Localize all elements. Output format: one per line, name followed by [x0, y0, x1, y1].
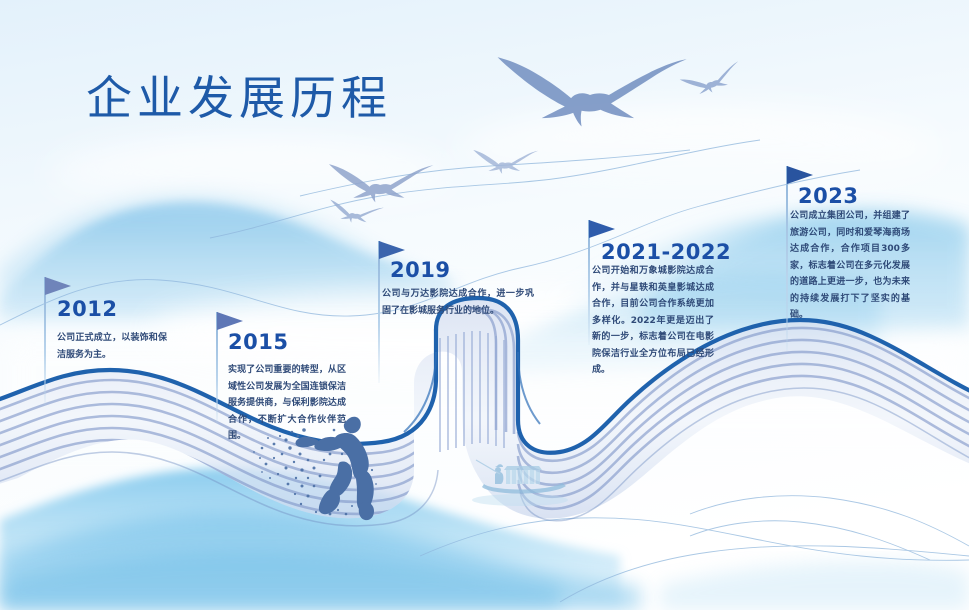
flag-icon — [589, 220, 615, 238]
milestone-year: 2012 — [57, 297, 117, 321]
seagull-medium — [329, 164, 433, 202]
milestone-description: 公司成立集团公司，并组建了旅游公司，同时和爱琴海商场达成合作，合作项目300多家… — [790, 208, 910, 324]
page-title: 企业发展历程 — [86, 62, 392, 128]
milestone-description: 公司开始和万象城影院达成合作，并与星轶和英皇影城达成合作，目前公司合作系统更加多… — [592, 263, 714, 379]
milestone-description: 公司与万达影院达成合作，进一步巩固了在影城服务行业的地位。 — [382, 286, 534, 319]
flag-pole-icon — [786, 166, 788, 351]
flag-icon — [45, 277, 71, 295]
seagull-low — [328, 200, 384, 227]
seagull-tiny — [680, 61, 745, 101]
flag-icon — [379, 241, 405, 259]
flag-pole-icon — [588, 220, 590, 345]
flag-icon — [787, 166, 813, 184]
seagull-small — [473, 150, 538, 174]
flag-icon — [217, 312, 243, 330]
milestone-year: 2019 — [390, 258, 450, 282]
milestone-description: 实现了公司重要的转型，从区域性公司发展为全国连锁保洁服务提供商，与保利影院达成合… — [228, 362, 346, 445]
milestone-year: 2015 — [228, 330, 288, 354]
milestone-description: 公司正式成立，以装饰和保洁服务为主。 — [57, 330, 167, 363]
milestone-year: 2023 — [798, 184, 858, 208]
poster-canvas: 企业发展历程 2012 公司正式成立，以装饰和保洁服务为主。 2015 实现了公… — [0, 0, 969, 610]
flag-pole-icon — [44, 277, 46, 405]
flag-pole-icon — [378, 241, 380, 383]
seagull-large — [498, 57, 687, 126]
milestone-year: 2021-2022 — [601, 240, 731, 264]
